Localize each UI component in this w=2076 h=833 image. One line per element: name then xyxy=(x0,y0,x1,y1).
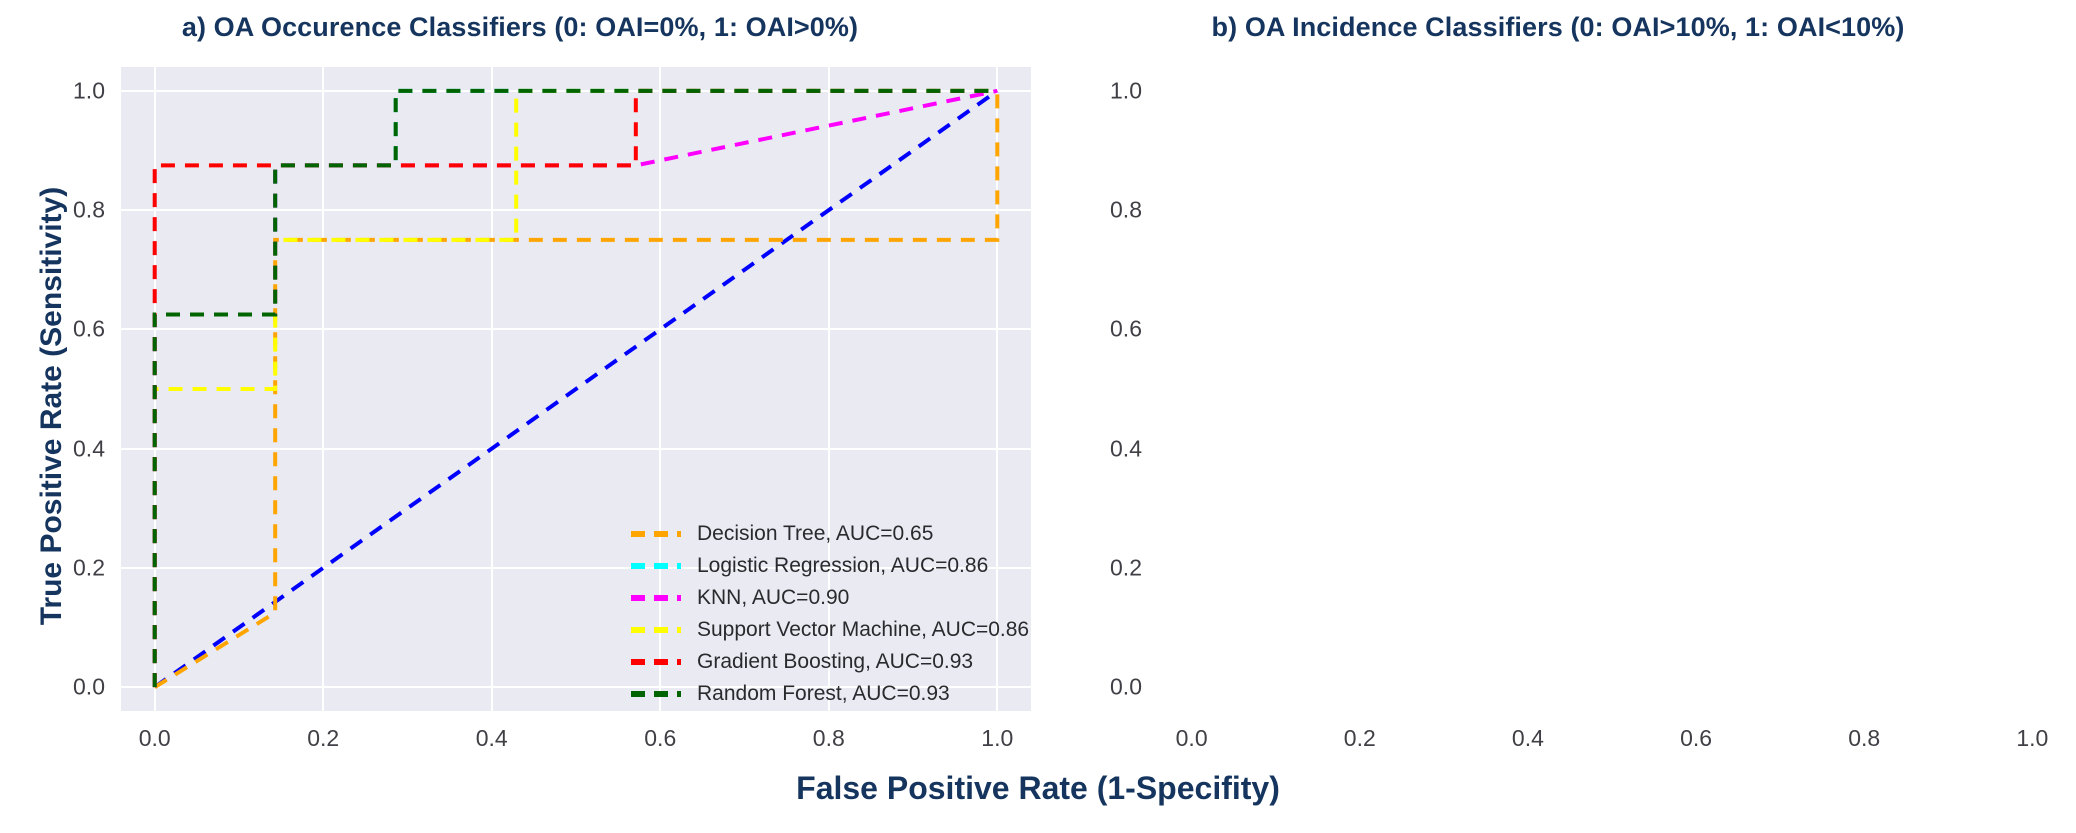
x-tick-label: 0.0 xyxy=(1176,725,1208,752)
legend-label: KNN, AUC=0.90 xyxy=(697,586,849,610)
y-tick-label: 1.0 xyxy=(1080,77,1142,104)
y-tick-label: 0.4 xyxy=(1080,435,1142,462)
legend-item: Decision Tree, AUC=0.65 xyxy=(630,518,1029,550)
legend-label: Decision Tree, AUC=0.65 xyxy=(697,522,933,546)
x-tick-label: 1.0 xyxy=(981,725,1013,752)
x-tick-label: 0.2 xyxy=(1344,725,1376,752)
y-axis-label: True Positive Rate (Sensitivity) xyxy=(35,126,69,686)
x-tick-label: 0.4 xyxy=(1512,725,1544,752)
legend-swatch-icon xyxy=(630,525,682,543)
panel-a: a) OA Occurence Classifiers (0: OAI=0%, … xyxy=(0,0,1040,833)
x-tick-label: 0.8 xyxy=(1848,725,1880,752)
legend-swatch-icon xyxy=(630,685,682,703)
y-tick-label: 1.0 xyxy=(43,77,105,104)
x-tick-label: 0.2 xyxy=(307,725,339,752)
x-axis-label: False Positive Rate (1-Specifity) xyxy=(0,770,2076,807)
legend-item: KNN, AUC=0.90 xyxy=(630,582,1029,614)
legend-item: Support Vector Machine, AUC=0.86 xyxy=(630,614,1029,646)
panel-a-legend: Decision Tree, AUC=0.65Logistic Regressi… xyxy=(630,518,1029,710)
legend-item: Gradient Boosting, AUC=0.93 xyxy=(630,646,1029,678)
x-tick-label: 1.0 xyxy=(2016,725,2048,752)
y-tick-label: 0.2 xyxy=(1080,554,1142,581)
y-tick-label: 0.6 xyxy=(1080,316,1142,343)
y-tick-label: 0.8 xyxy=(1080,197,1142,224)
panel-b-title: b) OA Incidence Classifiers (0: OAI>10%,… xyxy=(1040,12,2076,43)
legend-swatch-icon xyxy=(630,589,682,607)
x-tick-label: 0.0 xyxy=(139,725,171,752)
roc-figure: a) OA Occurence Classifiers (0: OAI=0%, … xyxy=(0,0,2076,833)
legend-label: Gradient Boosting, AUC=0.93 xyxy=(697,650,973,674)
legend-swatch-icon xyxy=(630,557,682,575)
x-tick-label: 0.6 xyxy=(1680,725,1712,752)
legend-swatch-icon xyxy=(630,653,682,671)
panel-b: b) OA Incidence Classifiers (0: OAI>10%,… xyxy=(1040,0,2076,833)
legend-swatch-icon xyxy=(630,621,682,639)
legend-item: Random Forest, AUC=0.93 xyxy=(630,678,1029,710)
y-tick-label: 0.0 xyxy=(1080,674,1142,701)
legend-label: Random Forest, AUC=0.93 xyxy=(697,682,950,706)
x-tick-label: 0.4 xyxy=(476,725,508,752)
x-tick-label: 0.8 xyxy=(813,725,845,752)
legend-item: Logistic Regression, AUC=0.86 xyxy=(630,550,1029,582)
legend-label: Logistic Regression, AUC=0.86 xyxy=(697,554,988,578)
x-tick-label: 0.6 xyxy=(644,725,676,752)
panel-a-title: a) OA Occurence Classifiers (0: OAI=0%, … xyxy=(0,12,1040,43)
legend-label: Support Vector Machine, AUC=0.86 xyxy=(697,618,1029,642)
